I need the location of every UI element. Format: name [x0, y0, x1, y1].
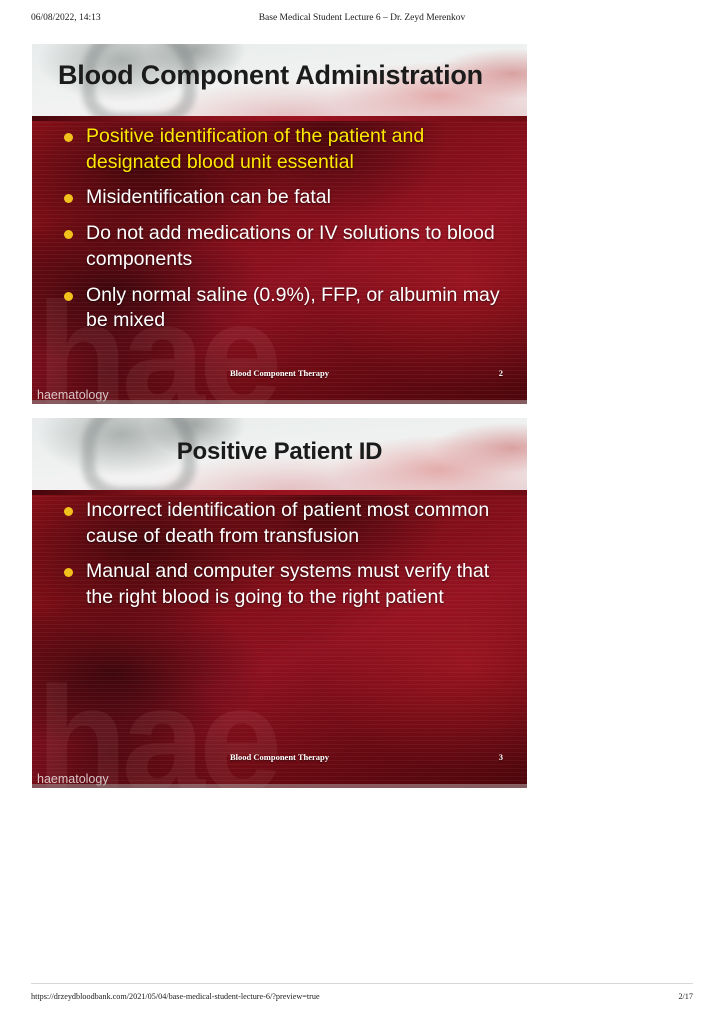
- bullet-text: Manual and computer systems must verify …: [86, 560, 489, 608]
- slide-footer: Blood Component Therapy 3 haematology: [32, 750, 527, 788]
- bullet-dot-icon: [64, 568, 73, 577]
- title-divider: [32, 490, 527, 495]
- slide-positive-patient-id: Positive Patient ID hae Incorrect identi…: [32, 418, 527, 788]
- bullet-list: Incorrect identification of patient most…: [58, 498, 511, 621]
- list-item: Manual and computer systems must verify …: [58, 559, 511, 610]
- bullet-dot-icon: [64, 507, 73, 516]
- slide-body: hae Incorrect identification of patient …: [32, 492, 527, 788]
- slide-number: 2: [499, 368, 503, 378]
- bullet-dot-icon: [64, 292, 73, 301]
- slide-title: Positive Patient ID: [32, 438, 527, 466]
- list-item: Only normal saline (0.9%), FFP, or album…: [58, 283, 511, 334]
- slide-footer-deck-title: Blood Component Therapy: [32, 752, 527, 762]
- footer-strip: [32, 784, 527, 788]
- slide-body: hae Positive identification of the patie…: [32, 118, 527, 404]
- list-item: Incorrect identification of patient most…: [58, 498, 511, 549]
- bullet-text: Incorrect identification of patient most…: [86, 499, 489, 547]
- footer-strip: [32, 400, 527, 404]
- list-item: Misidentification can be fatal: [58, 185, 511, 211]
- slide-footer: Blood Component Therapy 2 haematology: [32, 366, 527, 404]
- bullet-text: Misidentification can be fatal: [86, 186, 331, 208]
- footer-page-number: 2/17: [678, 992, 693, 1001]
- page-footer: https://drzeydbloodbank.com/2021/05/04/b…: [0, 989, 724, 1005]
- header-document-title: Base Medical Student Lecture 6 – Dr. Zey…: [0, 13, 724, 23]
- slide-blood-component-administration: Blood Component Administration hae Posit…: [32, 44, 527, 404]
- slide-number: 3: [499, 752, 503, 762]
- list-item: Positive identification of the patient a…: [58, 124, 511, 175]
- bullet-dot-icon: [64, 194, 73, 203]
- list-item: Do not add medications or IV solutions t…: [58, 221, 511, 272]
- bullet-dot-icon: [64, 133, 73, 142]
- slide-footer-deck-title: Blood Component Therapy: [32, 368, 527, 378]
- slide-title: Blood Component Administration: [32, 60, 527, 91]
- bullet-dot-icon: [64, 230, 73, 239]
- footer-divider: [31, 983, 693, 984]
- bullet-text: Do not add medications or IV solutions t…: [86, 222, 495, 270]
- page-header: 06/08/2022, 14:13 Base Medical Student L…: [0, 13, 724, 29]
- bullet-list: Positive identification of the patient a…: [58, 124, 511, 344]
- title-divider: [32, 116, 527, 121]
- bullet-text: Positive identification of the patient a…: [86, 125, 424, 173]
- bullet-text: Only normal saline (0.9%), FFP, or album…: [86, 284, 500, 332]
- footer-source-url: https://drzeydbloodbank.com/2021/05/04/b…: [31, 992, 320, 1001]
